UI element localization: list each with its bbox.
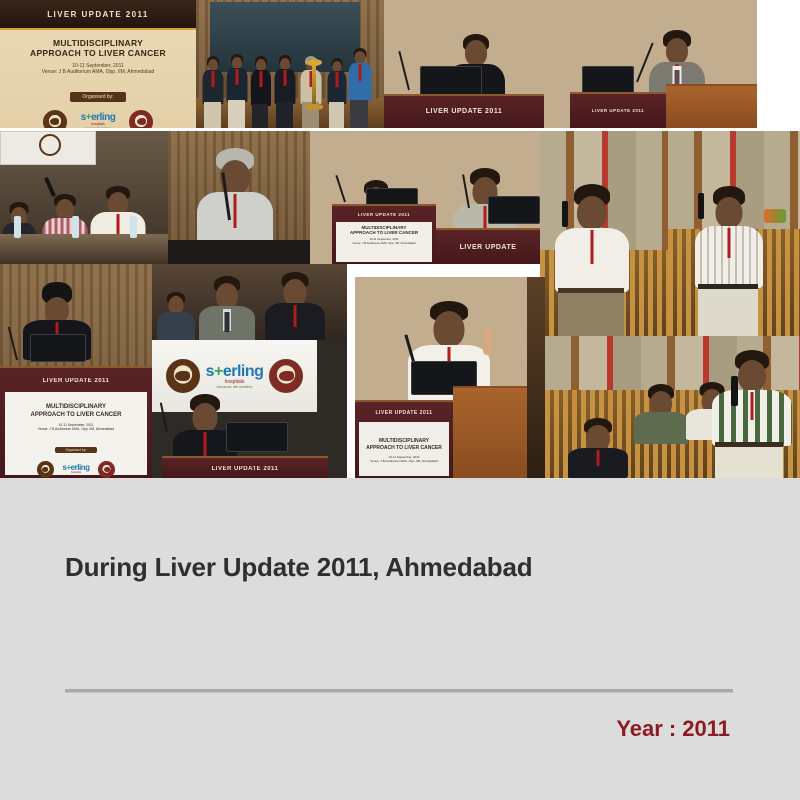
banner-title-strip: LIVER UPDATE 2011 [0,0,196,28]
podium: LIVER UPDATE 2011 [570,92,666,128]
banner-organised-by: Organised by: [70,92,125,102]
delegate-asking-question [711,350,793,478]
podium-theme-line-2: APPROACH TO LIVER CANCER [359,445,449,452]
auditorium-wall: LIVER UPDATE 2011 [570,0,757,128]
podium: LIVER UPDATE 2011 MULTIDISCIPLINARY APPR… [0,366,152,478]
year-label: Year : [616,716,676,741]
podium-venue: Venue: J B Auditorium AMA, Opp. IIM, Ahm… [5,427,147,431]
delegate [250,56,271,128]
photo-panel-discussion [0,131,168,264]
podium-venue: Venue: J B Auditorium AMA, Opp. IIM, Ahm… [359,459,449,463]
microphone-icon [8,327,18,360]
panel-table-scene [0,131,168,264]
laptop-icon [582,66,634,94]
sterling-subtitle: hospitals [63,472,90,475]
photo-audience-question-2 [668,131,800,336]
sponsor-logo-row: s+erling hospitals [5,461,147,478]
podium-banner-sign: MULTIDISCIPLINARY APPROACH TO LIVER CANC… [336,222,432,262]
podium: LIVER UPDATE 2011 [384,94,544,128]
desk-front [168,240,310,264]
delegate [264,272,326,350]
photo-seated-delegates [152,264,347,350]
microphone-icon [398,51,410,90]
photo-speaker-podium-3 [168,131,310,264]
podium: LIVER UPDATE 2011 [162,456,328,478]
podium [453,386,527,478]
podium-label: LIVER UPDATE 2011 [0,378,152,384]
auditorium-wall: LIVER UPDATE 2011 MULTIDISCIPLINARY APPR… [355,277,545,478]
auditorium-wall: LIVER UPDATE 2011 MULTIDISCIPLINARY APPR… [310,131,540,264]
microphone-icon [335,175,346,202]
banner-venue: Venue: J B Auditorium AMA, Opp. IIM, Ahm… [0,69,196,75]
podium-label: LIVER UPDATE 2011 [384,108,544,115]
caption-area: During Liver Update 2011, Ahmedabad Year… [0,478,800,800]
photo-speaker-sponsor-board: s+erling hospitals because life matters … [152,340,347,478]
banner-theme-line-2: APPROACH TO LIVER CANCER [0,49,196,59]
podium-label: LIVER UPDATE 2011 [332,212,436,217]
laptop-icon [30,334,86,362]
auditorium-wall: LIVER UPDATE 2011 [384,0,570,128]
audience-seating [152,264,347,350]
delegate [198,276,256,350]
delegate [327,58,347,128]
handheld-prop [764,209,786,223]
photo-speaker-podium-1: LIVER UPDATE 2011 [384,0,570,128]
photo-collage: LIVER UPDATE 2011 MULTIDISCIPLINARY APPR… [0,0,800,478]
microphone-icon [562,201,568,227]
collage-white-gap [757,0,800,128]
podium-label: LIVER UPDATE 2011 [355,410,453,416]
page-title: During Liver Update 2011, Ahmedabad [65,552,532,583]
podium: LIVER UPDATE [436,228,540,264]
delegate-seated [567,418,629,478]
laptop-icon [226,422,288,452]
liver-logo-icon [43,110,67,128]
sterling-tagline: because life matters [81,127,116,128]
liver-cancer-group-logo-icon [129,110,153,128]
liver-cancer-group-logo-icon [98,461,115,478]
photo-speaker-podium-2: LIVER UPDATE 2011 [570,0,757,128]
auditorium-wall: LIVER UPDATE 2011 MULTIDISCIPLINARY APPR… [0,264,152,478]
photo-speaker-turban: LIVER UPDATE 2011 MULTIDISCIPLINARY APPR… [0,264,152,478]
water-bottle [14,216,21,238]
sterling-hospitals-logo-icon: s+erling hospitals because life matters [206,364,264,389]
auditorium-panel-wall [545,336,800,478]
liver-cancer-group-logo-icon [269,359,303,393]
auditorium-panel-wall [540,131,668,336]
ceremonial-lamp [312,64,316,106]
podium-theme-line-1: MULTIDISCIPLINARY [5,404,147,412]
podium-organised-by: Organised by: [55,447,96,453]
auditorium-wall [168,131,310,264]
auditorium-panel-wall [668,131,800,336]
delegate-asking-question [694,186,764,336]
divider [65,689,733,693]
raised-hand [483,329,493,355]
lamp-bowl [306,59,322,66]
delegate [202,56,224,128]
liver-logo-icon [166,359,200,393]
delegate [274,55,296,128]
sterling-tagline: because life matters [206,385,264,389]
podium-venue: Venue: J B Auditorium AMA, Opp. IIM, Ahm… [336,241,432,245]
delegate-seated [633,384,689,444]
auditorium-stage [196,0,384,128]
year-value: 2011 [682,716,730,741]
head-table [0,234,168,264]
photo-audience-question-1 [540,131,668,336]
microphone-icon [731,376,738,406]
lamp-base [305,104,323,110]
banner-event-name: LIVER UPDATE 2011 [47,10,148,19]
podium-label: LIVER UPDATE 2011 [162,466,328,472]
year-meta: Year :2011 [616,716,730,742]
podium: LIVER UPDATE 2011 MULTIDISCIPLINARY APPR… [355,400,453,478]
podium: LIVER UPDATE 2011 MULTIDISCIPLINARY APPR… [332,204,436,264]
delegate [300,56,322,128]
liver-logo-icon [39,134,61,156]
podium [666,84,757,128]
laptop-icon [488,196,540,224]
microphone-icon [698,193,704,219]
sponsor-logo-row: s+erling hospitals because life matters [0,110,196,128]
podium-theme-line-2: APPROACH TO LIVER CANCER [336,230,432,235]
water-bottle [72,216,79,238]
liver-logo-icon [37,461,54,478]
backdrop-sign [0,131,96,165]
podium-theme-line-2: APPROACH TO LIVER CANCER [5,412,147,420]
water-bottle [130,216,137,238]
photo-speaker-gesture: LIVER UPDATE 2011 MULTIDISCIPLINARY APPR… [355,277,545,478]
podium-banner-sign: MULTIDISCIPLINARY APPROACH TO LIVER CANC… [359,422,449,476]
side-wall [527,277,545,478]
sponsor-backdrop-scene: s+erling hospitals because life matters … [152,340,347,478]
photo-lamp-lighting-ceremony [196,0,384,128]
podium-label: LIVER UPDATE [436,244,540,251]
event-photo-page: LIVER UPDATE 2011 MULTIDISCIPLINARY APPR… [0,0,800,800]
banner-body: MULTIDISCIPLINARY APPROACH TO LIVER CANC… [0,28,196,128]
event-banner: LIVER UPDATE 2011 MULTIDISCIPLINARY APPR… [0,0,196,128]
photo-banner-lamp-lighting: LIVER UPDATE 2011 MULTIDISCIPLINARY APPR… [0,0,196,128]
sterling-hospitals-logo-icon: s+erling hospitals [63,464,90,475]
laptop-icon [420,66,482,96]
delegate [226,54,248,128]
photo-dual-podium: LIVER UPDATE 2011 MULTIDISCIPLINARY APPR… [310,131,540,264]
sterling-hospitals-logo-icon: s+erling hospitals because life matters [81,113,116,128]
delegate [348,48,372,128]
photo-audience-question-3 [545,336,800,478]
podium-label: LIVER UPDATE 2011 [570,108,666,113]
podium-banner-sign: MULTIDISCIPLINARY APPROACH TO LIVER CANC… [5,392,147,475]
